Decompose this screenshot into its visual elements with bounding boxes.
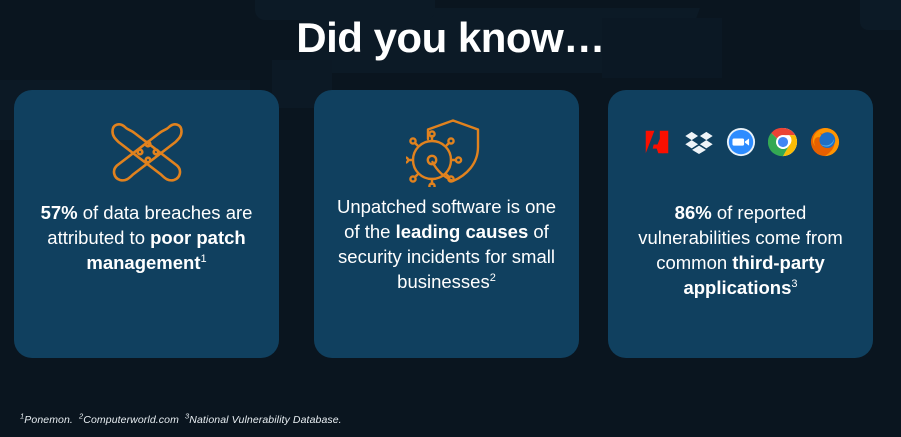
footnote-source-2: Computerworld.com <box>83 414 179 426</box>
footnote-marker: 1 <box>201 253 207 265</box>
virus-shield-icon <box>314 112 579 192</box>
fact-card-text: 86% of reported vulnerabilities come fro… <box>622 200 859 300</box>
adobe-logo <box>642 127 672 157</box>
slide-canvas: Did you know… 57% of data breaches are a… <box>0 0 901 437</box>
fact-stat: 57% <box>41 202 78 223</box>
footnote-source-3: National Vulnerability Database. <box>189 414 341 426</box>
page-title: Did you know… <box>0 10 901 66</box>
chrome-logo <box>768 127 798 157</box>
fact-stat: 86% <box>675 202 712 223</box>
dropbox-logo <box>684 127 714 157</box>
fact-card-third-party-apps: 86% of reported vulnerabilities come fro… <box>608 90 873 358</box>
firefox-logo <box>810 127 840 157</box>
fact-card-text: Unpatched software is one of the leading… <box>328 194 565 294</box>
fact-card-text: 57% of data breaches are attributed to p… <box>28 200 265 275</box>
fact-card-unpatched-software: Unpatched software is one of the leading… <box>314 90 579 358</box>
footnote-marker: 3 <box>791 278 797 290</box>
footnote-marker: 2 <box>490 272 496 284</box>
crossed-bandages-icon <box>14 112 279 192</box>
fact-text-emphasis: leading causes <box>396 221 529 242</box>
zoom-logo <box>726 127 756 157</box>
fact-card-patch-management: 57% of data breaches are attributed to p… <box>14 90 279 358</box>
app-logos-row <box>608 114 873 170</box>
footnote-source-1: Ponemon. <box>24 414 73 426</box>
footnote-sources: 1Ponemon. 2Computerworld.com 3National V… <box>20 414 342 426</box>
